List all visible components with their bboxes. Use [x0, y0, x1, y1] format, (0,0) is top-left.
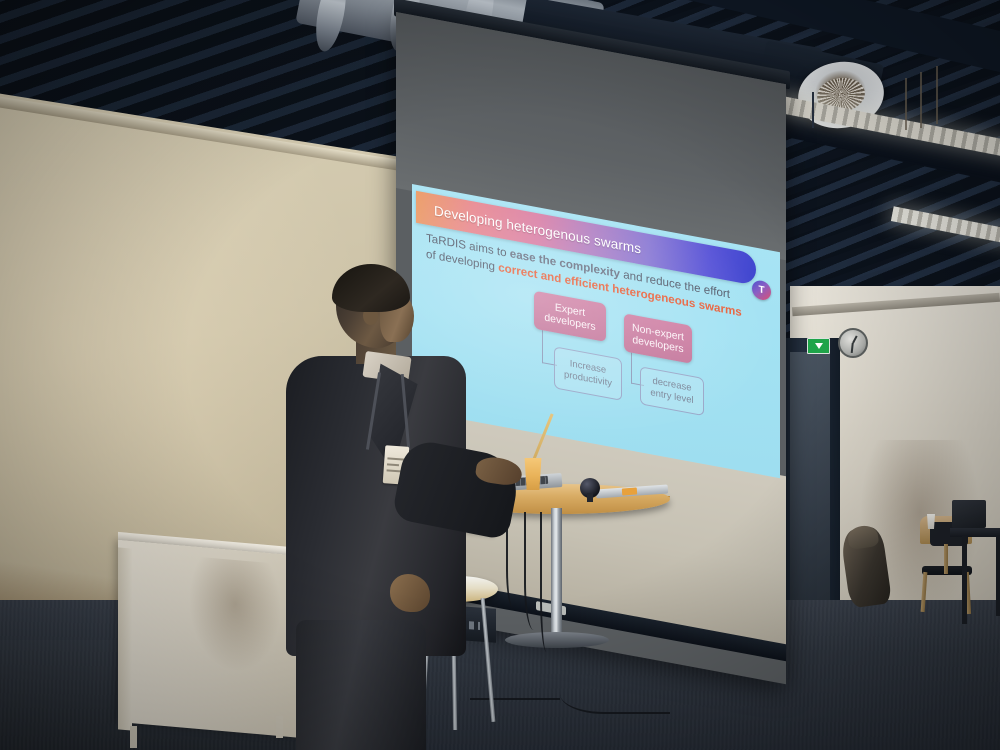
slide-node-decrease-entry-level: decrease entry level [640, 366, 704, 416]
microphone-stem [587, 493, 593, 502]
presenter-hand-on-stool [390, 574, 430, 612]
chair-leg [944, 544, 948, 574]
right-table-leg [962, 536, 967, 624]
clock-hand-minute [851, 343, 854, 353]
cabinet-leg [130, 726, 137, 748]
cabinet-shadow [190, 556, 280, 674]
emergency-exit-icon [807, 338, 830, 354]
presenter [280, 262, 510, 750]
cable [540, 512, 556, 652]
exit-arrow-icon [815, 343, 823, 349]
door-glass [790, 352, 830, 602]
badge-line [387, 463, 399, 465]
wall-clock-icon [838, 328, 868, 358]
presenter-trousers [296, 620, 426, 750]
right-laptop [952, 500, 986, 528]
cable-floor-run [560, 664, 670, 714]
cabinet-side-panel [118, 547, 132, 730]
badge-line [387, 457, 404, 460]
light-hanger [812, 92, 814, 128]
slide-node-increase-productivity: Increase productivity [554, 346, 622, 401]
sticky-note [622, 487, 637, 495]
photo-scene: Developing heterogenous swarms T TaRDIS … [0, 0, 1000, 750]
right-table-leg [996, 536, 1000, 616]
badge-line [387, 469, 401, 471]
right-table [950, 528, 1000, 537]
presenter-hair [332, 264, 410, 312]
